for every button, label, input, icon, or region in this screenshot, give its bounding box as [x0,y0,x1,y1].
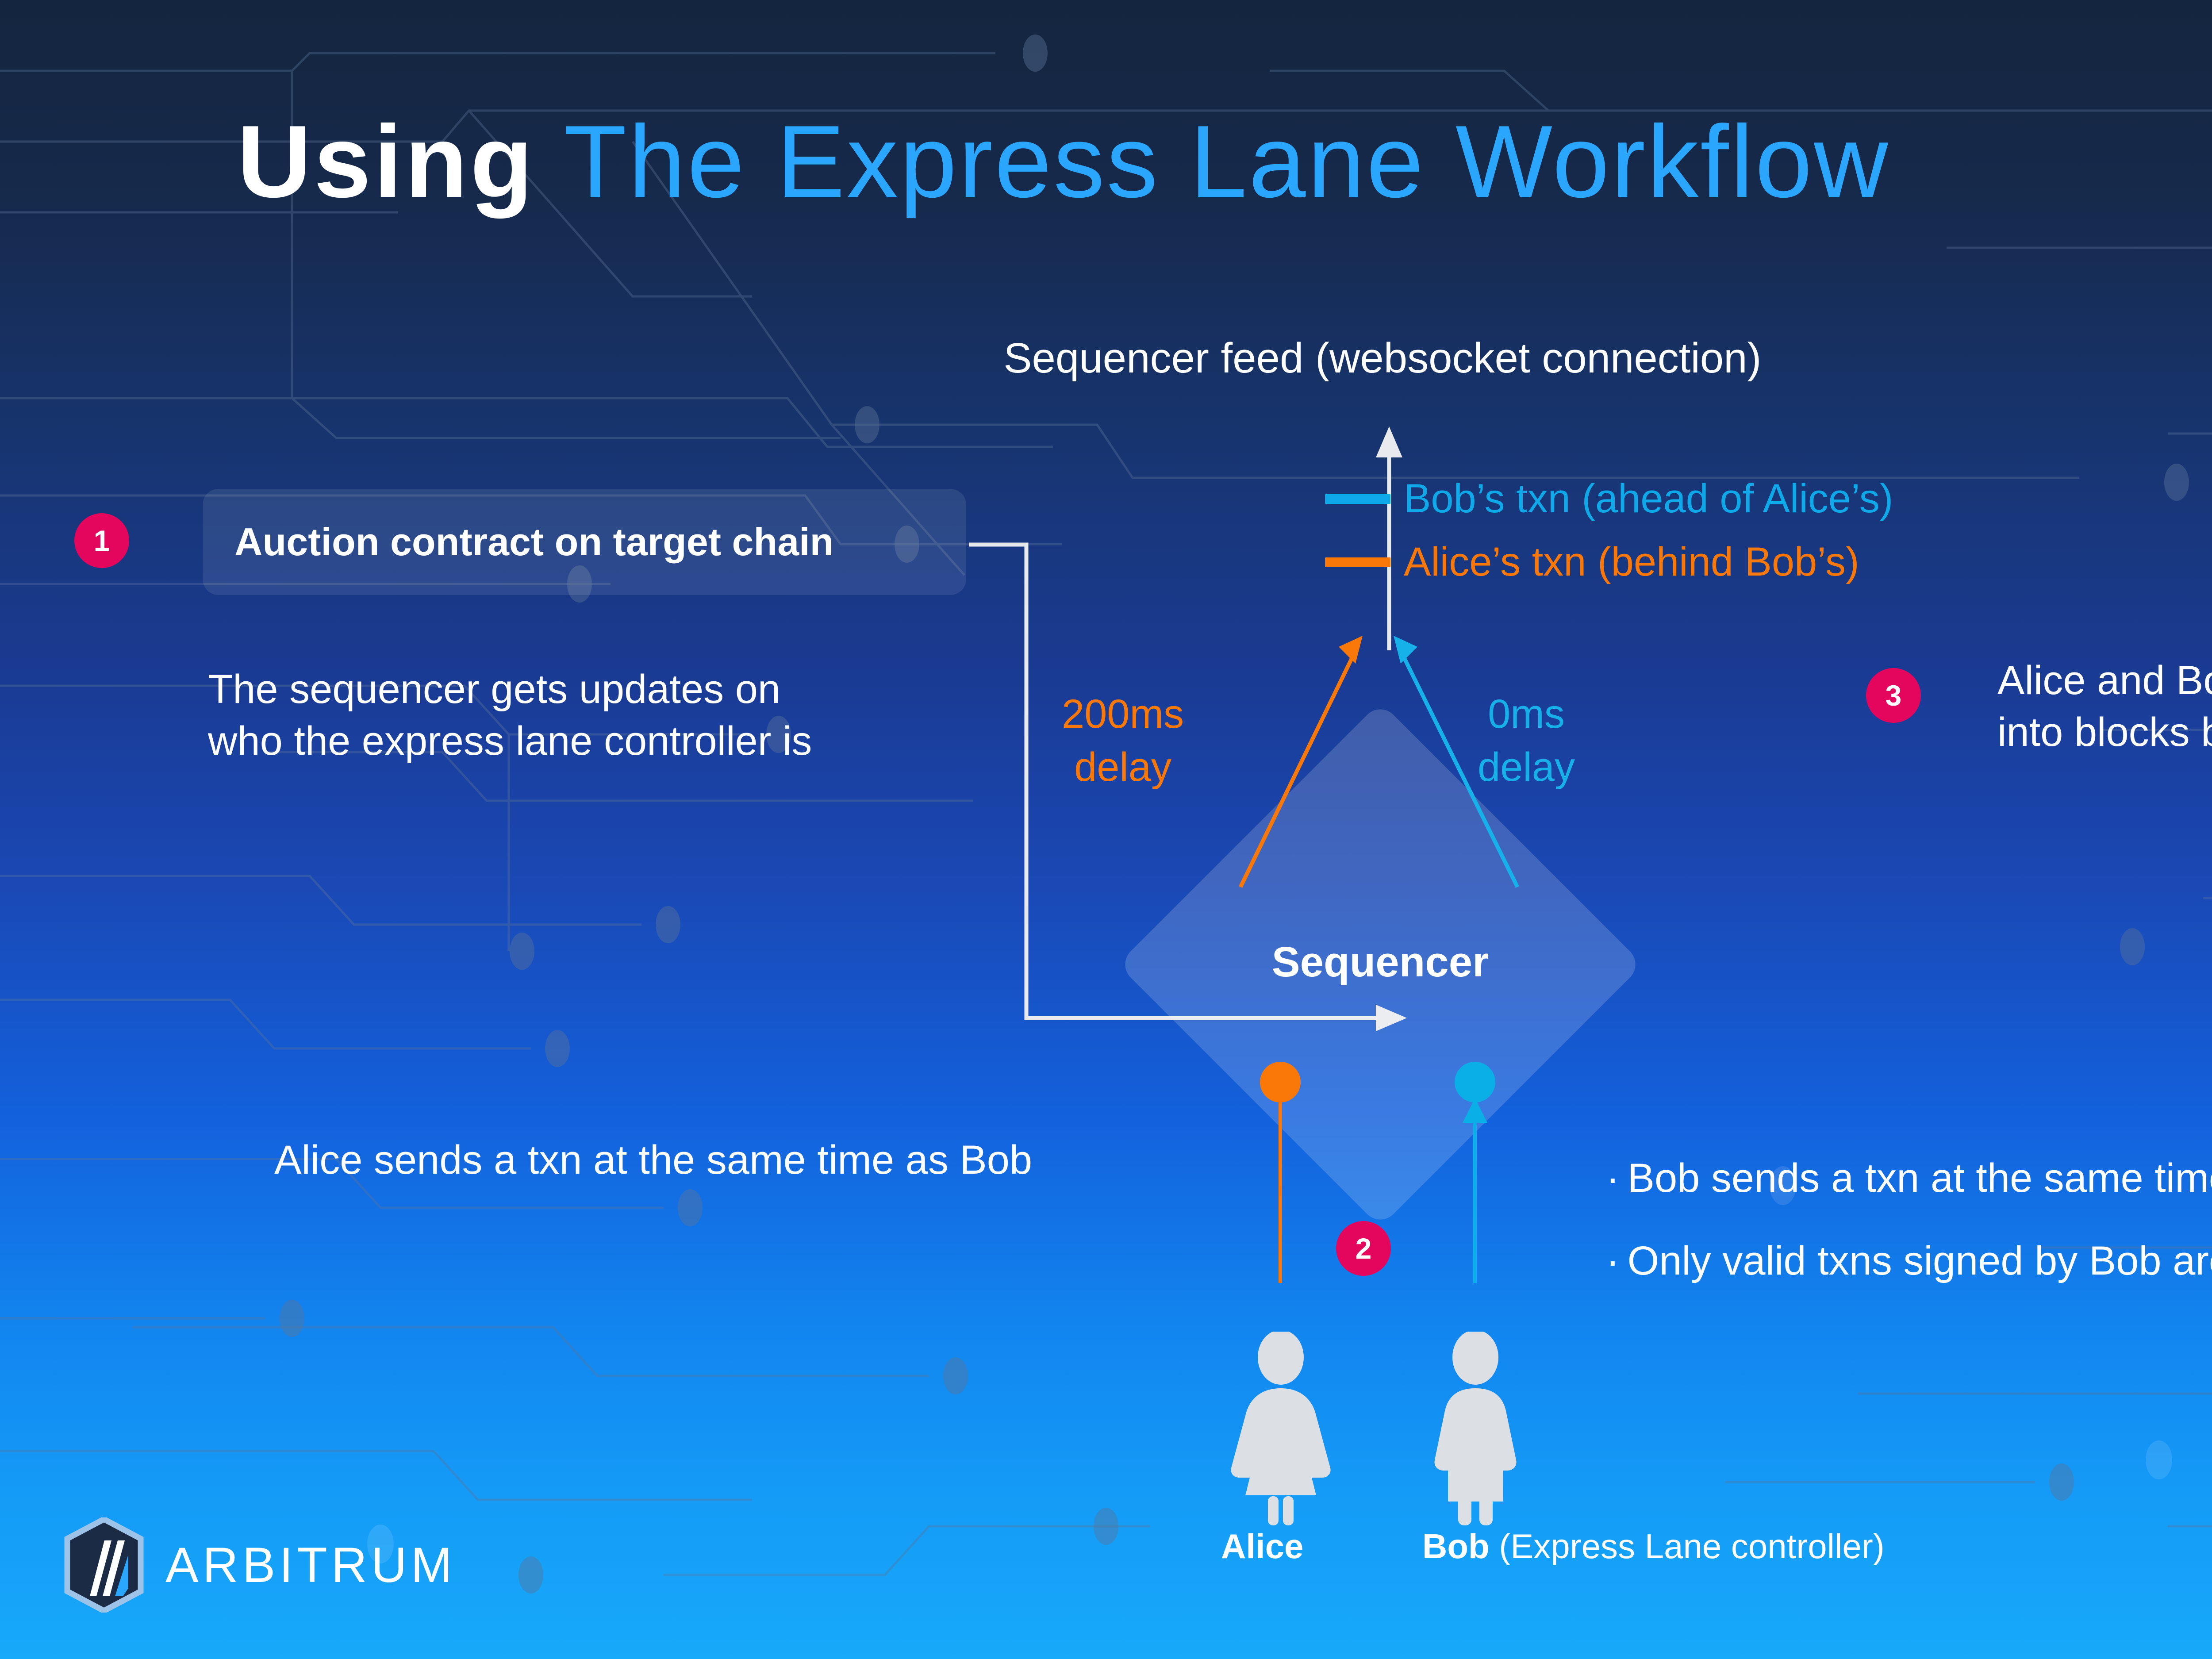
list-item: ·Bob sends a txn at the same time as Ali… [1606,1137,2212,1220]
bob-notes-list: ·Bob sends a txn at the same time as Ali… [1606,1137,2212,1302]
bob-txn-dot [1455,1062,1495,1102]
alice-txn-line-upper [1240,653,1355,887]
bob-bullet-2-label: Only valid txns signed by Bob are accept… [1628,1238,2212,1283]
arbitrum-wordmark: ARBITRUM [165,1536,456,1594]
step-badge-2: 2 [1336,1221,1391,1276]
transaction-flow-arrows [0,0,2212,1659]
bullet-dot-icon: · [1606,1156,1620,1201]
list-item: ·Only valid txns signed by Bob are accep… [1606,1220,2212,1302]
alice-txn-dot [1260,1062,1301,1102]
alice-name-label: Alice [1221,1526,1303,1567]
bob-figure-icon [1434,1332,1516,1525]
alice-figure-icon [1231,1332,1330,1525]
bob-name-suffix: (Express Lane controller) [1490,1527,1885,1566]
bob-bullet-1-label: Bob sends a txn at the same time as Alic… [1628,1156,2212,1201]
arbitrum-mark-icon [62,1517,146,1613]
arbitrum-logo: ARBITRUM [62,1517,456,1613]
alice-sends-note: Alice sends a txn at the same time as Bo… [274,1137,1032,1183]
bullet-dot-icon: · [1606,1238,1620,1283]
bob-name-label: Bob (Express Lane controller) [1422,1526,1885,1567]
bob-name-bold: Bob [1422,1527,1490,1566]
bob-txn-line-upper [1402,653,1517,887]
actor-figures [1212,1332,1655,1526]
